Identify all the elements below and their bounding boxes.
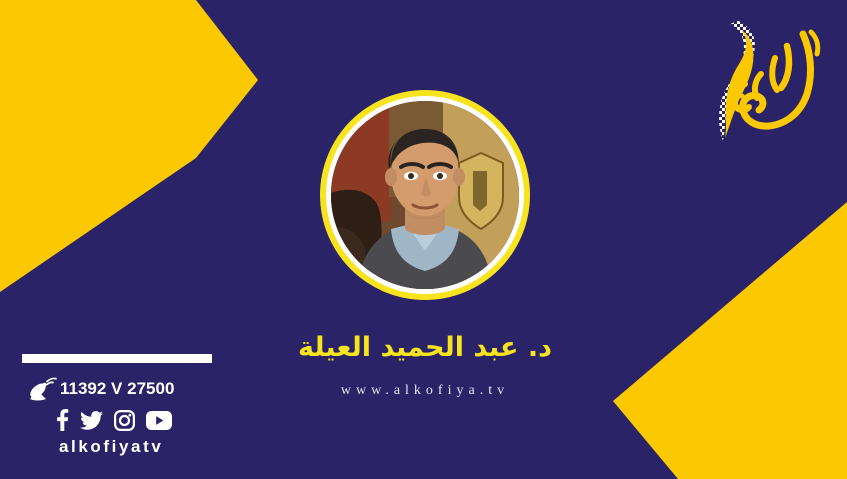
facebook-icon[interactable] xyxy=(56,409,69,431)
youtube-icon[interactable] xyxy=(146,411,172,430)
social-handle: alkofiyatv xyxy=(59,437,252,457)
twitter-icon[interactable] xyxy=(80,411,103,430)
social-links xyxy=(56,409,252,431)
portrait-illustration xyxy=(331,101,519,289)
caption-block: د. عبد الحميد العيلة www.alkofiya.tv xyxy=(260,330,590,399)
channel-info-block: 11392 V 27500 alkofiyatv xyxy=(22,354,252,457)
frequency-text: 11392 V 27500 xyxy=(60,379,174,399)
instagram-icon[interactable] xyxy=(114,410,135,431)
portrait-photo xyxy=(331,101,519,289)
website-url[interactable]: www.alkofiya.tv xyxy=(260,383,590,399)
broadcast-lower-third-graphic: د. عبد الحميد العيلة www.alkofiya.tv 113… xyxy=(0,0,847,479)
channel-logo xyxy=(683,12,833,152)
divider-bar xyxy=(22,354,212,363)
satellite-dish-icon xyxy=(28,376,58,402)
logo-svg xyxy=(683,12,833,152)
person-name: د. عبد الحميد العيلة xyxy=(260,330,590,366)
portrait xyxy=(320,90,530,300)
frequency-row: 11392 V 27500 xyxy=(22,376,252,402)
